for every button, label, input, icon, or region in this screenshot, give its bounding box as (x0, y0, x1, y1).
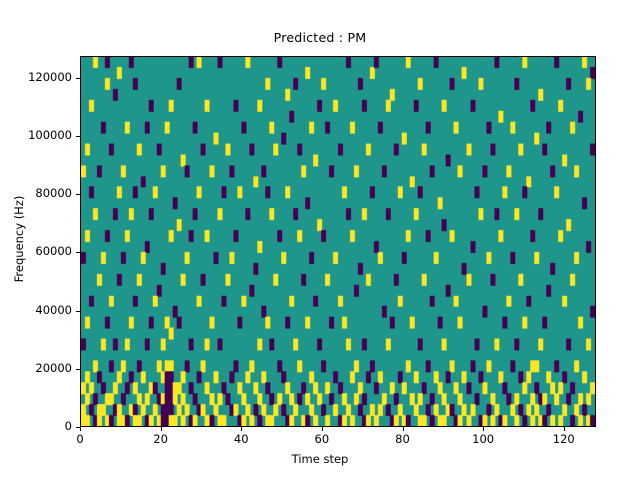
y-tick-label: 20000 (6, 361, 72, 375)
y-tick-mark (76, 136, 80, 137)
x-tick-mark (483, 427, 484, 431)
x-tick-label: 120 (544, 432, 584, 446)
x-tick-mark (322, 427, 323, 431)
y-tick-label: 100000 (6, 128, 72, 142)
y-axis-label: Frequency (Hz) (12, 164, 26, 314)
x-tick-label: 0 (60, 432, 100, 446)
y-tick-mark (76, 252, 80, 253)
y-tick-mark (76, 78, 80, 79)
x-tick-label: 40 (221, 432, 261, 446)
x-tick-label: 100 (463, 432, 503, 446)
matplotlib-figure: Predicted : PM 0200004000060000800001000… (0, 0, 640, 480)
y-tick-mark (76, 369, 80, 370)
heatmap-axes (80, 56, 596, 427)
y-tick-mark (76, 311, 80, 312)
x-tick-label: 20 (141, 432, 181, 446)
x-tick-mark (241, 427, 242, 431)
x-tick-mark (161, 427, 162, 431)
y-tick-label: 120000 (6, 70, 72, 84)
x-tick-label: 80 (383, 432, 423, 446)
y-tick-mark (76, 194, 80, 195)
x-tick-label: 60 (302, 432, 342, 446)
x-tick-mark (564, 427, 565, 431)
x-axis-label: Time step (0, 452, 640, 466)
heatmap-image (81, 57, 595, 426)
y-tick-label: 0 (6, 419, 72, 433)
x-tick-mark (403, 427, 404, 431)
x-tick-mark (80, 427, 81, 431)
plot-title: Predicted : PM (0, 30, 640, 45)
